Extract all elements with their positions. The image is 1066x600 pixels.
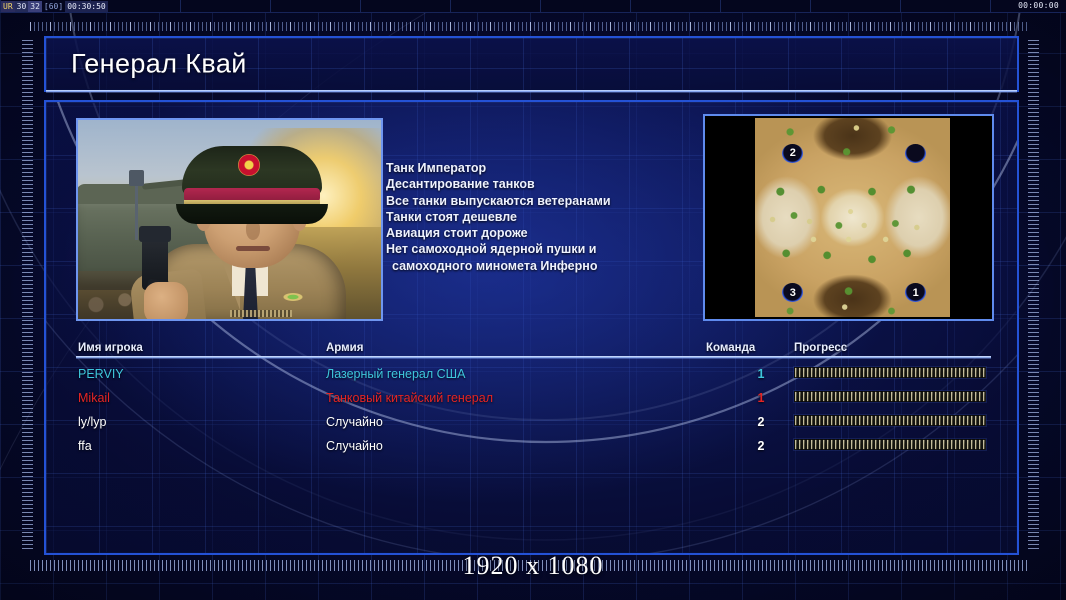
resolution-label: 1920 x 1080 — [0, 551, 1066, 581]
player-team: 2 — [741, 439, 781, 453]
ruler-top — [30, 22, 1030, 31]
table-row: MikailТанковый китайский генерал1 — [76, 388, 991, 412]
title-panel: Генерал Квай — [44, 36, 1019, 92]
topbar-grid — [0, 0, 1066, 12]
general-figure — [126, 132, 356, 321]
general-wing-badge-icon — [276, 290, 310, 304]
player-progress — [794, 367, 986, 378]
minimap-start-empty — [905, 144, 926, 163]
description-line: Авиация стоит дороже — [386, 225, 686, 241]
general-cap-emblem-icon — [238, 154, 260, 176]
player-progress — [794, 415, 986, 426]
player-table-divider — [76, 356, 991, 359]
description-line: Танки стоят дешевле — [386, 209, 686, 225]
topbar-elapsed: 00:30:50 — [65, 1, 108, 12]
minimap-start-2: 2 — [782, 144, 803, 163]
top-status-bar: UR 30 32 [60] 00:30:50 00:00:00 — [0, 0, 1066, 13]
player-team: 2 — [741, 415, 781, 429]
general-hand — [144, 282, 188, 321]
player-army: Случайно — [326, 415, 383, 429]
column-header-team: Команда — [706, 342, 755, 354]
minimap-inner: 231 — [707, 118, 990, 317]
player-team: 1 — [741, 391, 781, 405]
topbar-value-2: 32 — [28, 1, 42, 12]
description-line: Десантирование танков — [386, 176, 686, 192]
topbar-tag: UR — [1, 1, 15, 12]
general-description: Танк Император Десантирование танков Все… — [386, 160, 686, 274]
player-progress — [794, 391, 986, 402]
player-army: Танковый китайский генерал — [326, 391, 493, 405]
column-header-name: Имя игрока — [78, 342, 143, 354]
progress-bar — [794, 367, 986, 378]
description-line: самоходного миномета Инферно — [386, 258, 686, 274]
player-row-list: PERVIYЛазерный генерал США1MikailТанковы… — [76, 364, 991, 460]
player-team: 1 — [741, 367, 781, 381]
column-header-progress: Прогресс — [794, 342, 847, 354]
player-army: Случайно — [326, 439, 383, 453]
topbar-left-readout: UR 30 32 [60] 00:30:50 — [1, 0, 108, 13]
player-name: Mikail — [78, 391, 110, 405]
topbar-value-1: 30 — [15, 1, 29, 12]
loading-screen: UR 30 32 [60] 00:30:50 00:00:00 Генерал … — [0, 0, 1066, 600]
column-header-army: Армия — [326, 342, 363, 354]
player-table-header: Имя игрока Армия Команда Прогресс — [76, 336, 991, 356]
table-row: ly/lypСлучайно2 — [76, 412, 991, 436]
player-progress — [794, 439, 986, 450]
ruler-left — [22, 40, 33, 550]
progress-bar — [794, 415, 986, 426]
minimap: 231 — [703, 114, 994, 321]
pistol-icon — [142, 228, 168, 290]
description-line: Все танки выпускаются ветеранами — [386, 193, 686, 209]
general-mouth — [236, 246, 270, 251]
ruler-right — [1028, 40, 1039, 550]
player-army: Лазерный генерал США — [326, 367, 465, 381]
minimap-terrain: 231 — [755, 118, 950, 317]
page-title: Генерал Квай — [71, 49, 247, 80]
table-row: PERVIYЛазерный генерал США1 — [76, 364, 991, 388]
portrait-credit-strip — [230, 310, 292, 317]
player-name: PERVIY — [78, 367, 124, 381]
player-table: Имя игрока Армия Команда Прогресс PERVIY… — [76, 336, 991, 460]
player-name: ffa — [78, 439, 92, 453]
description-line: Танк Император — [386, 160, 686, 176]
general-portrait — [76, 118, 383, 321]
player-name: ly/lyp — [78, 415, 106, 429]
portrait-artwork — [78, 120, 381, 319]
progress-bar — [794, 391, 986, 402]
table-row: ffaСлучайно2 — [76, 436, 991, 460]
general-cap-visor — [176, 204, 328, 224]
main-panel: Танк Император Десантирование танков Все… — [44, 100, 1019, 555]
topbar-bracket: [60] — [42, 1, 65, 12]
topbar-right-clock: 00:00:00 — [1018, 1, 1059, 10]
progress-bar — [794, 439, 986, 450]
description-line: Нет самоходной ядерной пушки и — [386, 241, 686, 257]
